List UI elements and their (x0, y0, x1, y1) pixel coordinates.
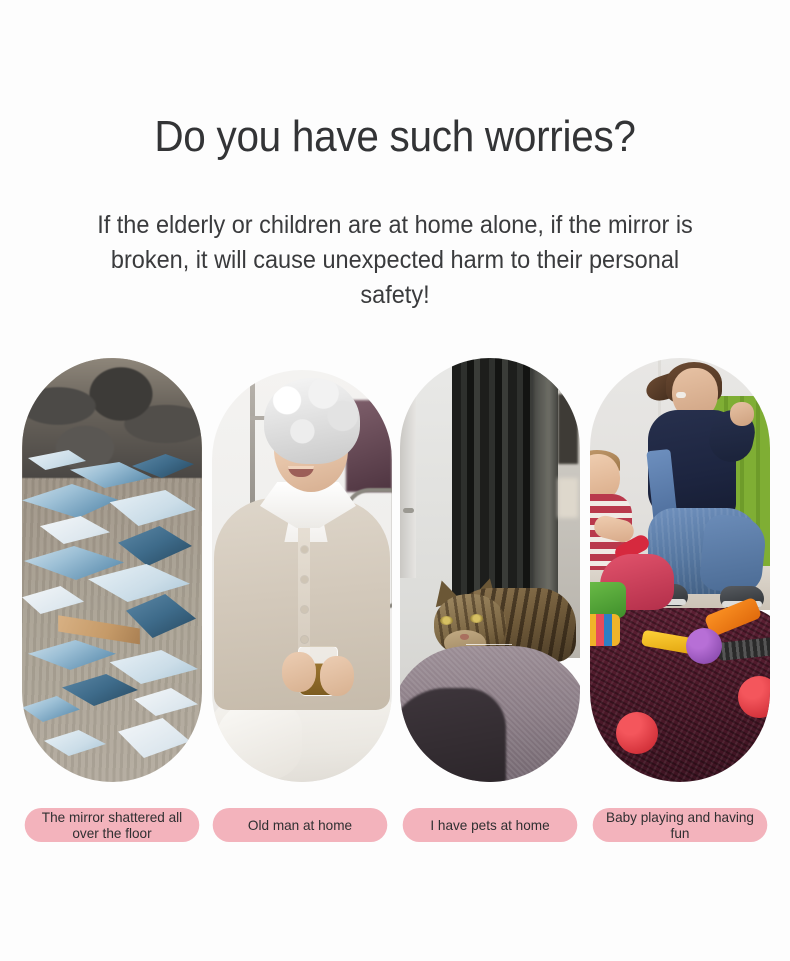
panel-elderly-at-home[interactable] (212, 370, 392, 782)
caption-baby-playing[interactable]: Baby playing and having fun (593, 808, 768, 842)
elderly-at-home-image (212, 370, 392, 782)
panel-pets-at-home[interactable] (400, 358, 580, 782)
pets-at-home-image (400, 358, 580, 782)
caption-pets-at-home[interactable]: I have pets at home (403, 808, 578, 842)
page-subtitle: If the elderly or children are at home a… (80, 208, 710, 313)
promo-page: Do you have such worries? If the elderly… (0, 0, 790, 961)
page-title: Do you have such worries? (32, 112, 759, 162)
baby-playing-image (590, 358, 770, 782)
caption-elderly-at-home[interactable]: Old man at home (213, 808, 388, 842)
caption-shattered-mirror[interactable]: The mirror shattered all over the floor (25, 808, 200, 842)
panel-baby-playing[interactable] (590, 358, 770, 782)
shattered-mirror-image (22, 358, 202, 782)
panel-shattered-mirror[interactable] (22, 358, 202, 782)
